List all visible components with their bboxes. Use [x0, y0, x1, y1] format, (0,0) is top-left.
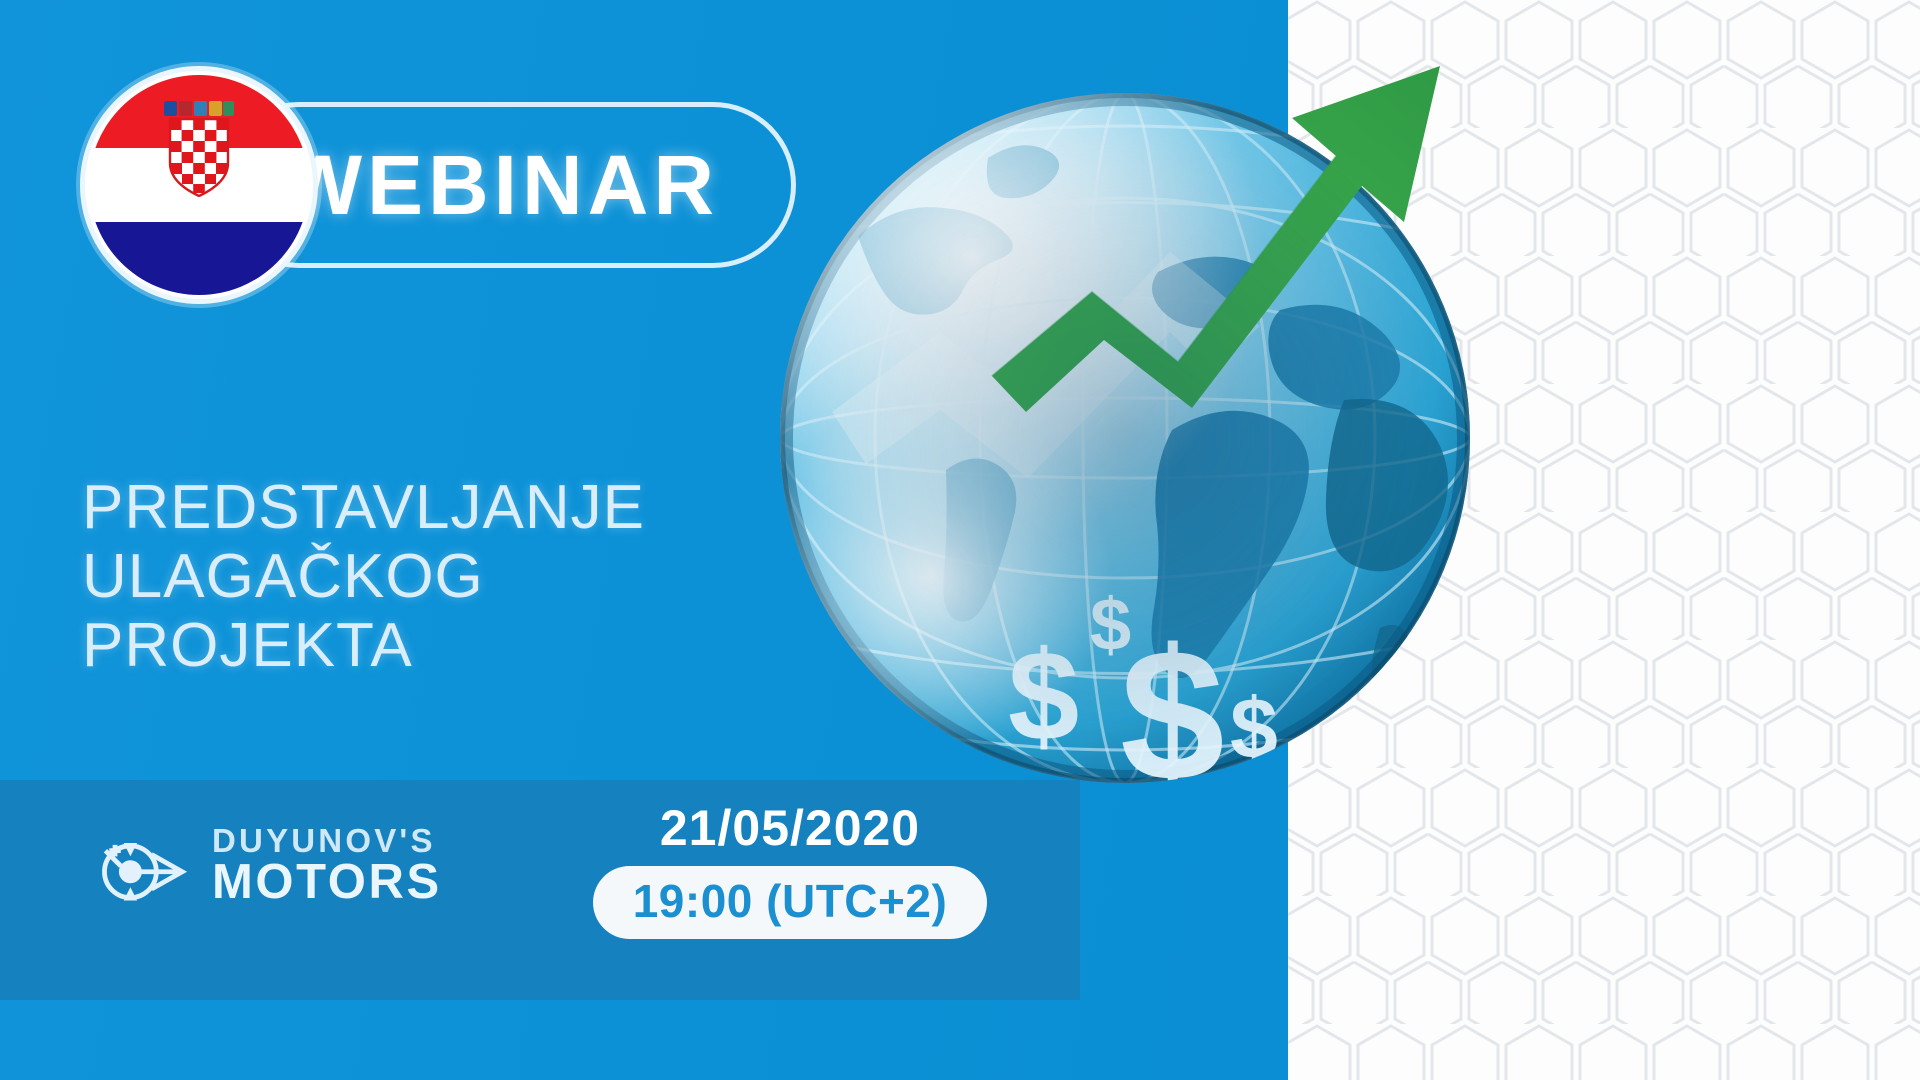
- webinar-date: 21/05/2020: [660, 800, 920, 856]
- webinar-time-pill: 19:00 (UTC+2): [593, 866, 988, 939]
- croatia-flag-badge: [80, 66, 318, 304]
- brand-name-line-2: MOTORS: [212, 859, 442, 907]
- duyunov-motors-emblem-icon: [92, 818, 188, 914]
- globe-drop-shadow: [780, 92, 1470, 782]
- brand-name-line-1: DUYUNOV'S: [212, 825, 442, 857]
- croatia-flag-icon: [89, 75, 309, 295]
- flag-stripe-blue: [89, 222, 309, 295]
- webinar-label: WEBINAR: [283, 143, 719, 227]
- webinar-banner: WEBINAR: [0, 0, 1920, 1080]
- globe-artwork: $ $ $ $: [740, 40, 1500, 840]
- schedule-block: 21/05/2020 19:00 (UTC+2): [580, 800, 1000, 939]
- brand-wordmark: DUYUNOV'S MOTORS: [212, 825, 442, 907]
- croatia-coat-of-arms-icon: [162, 101, 236, 197]
- brand-lockup: DUYUNOV'S MOTORS: [92, 818, 442, 914]
